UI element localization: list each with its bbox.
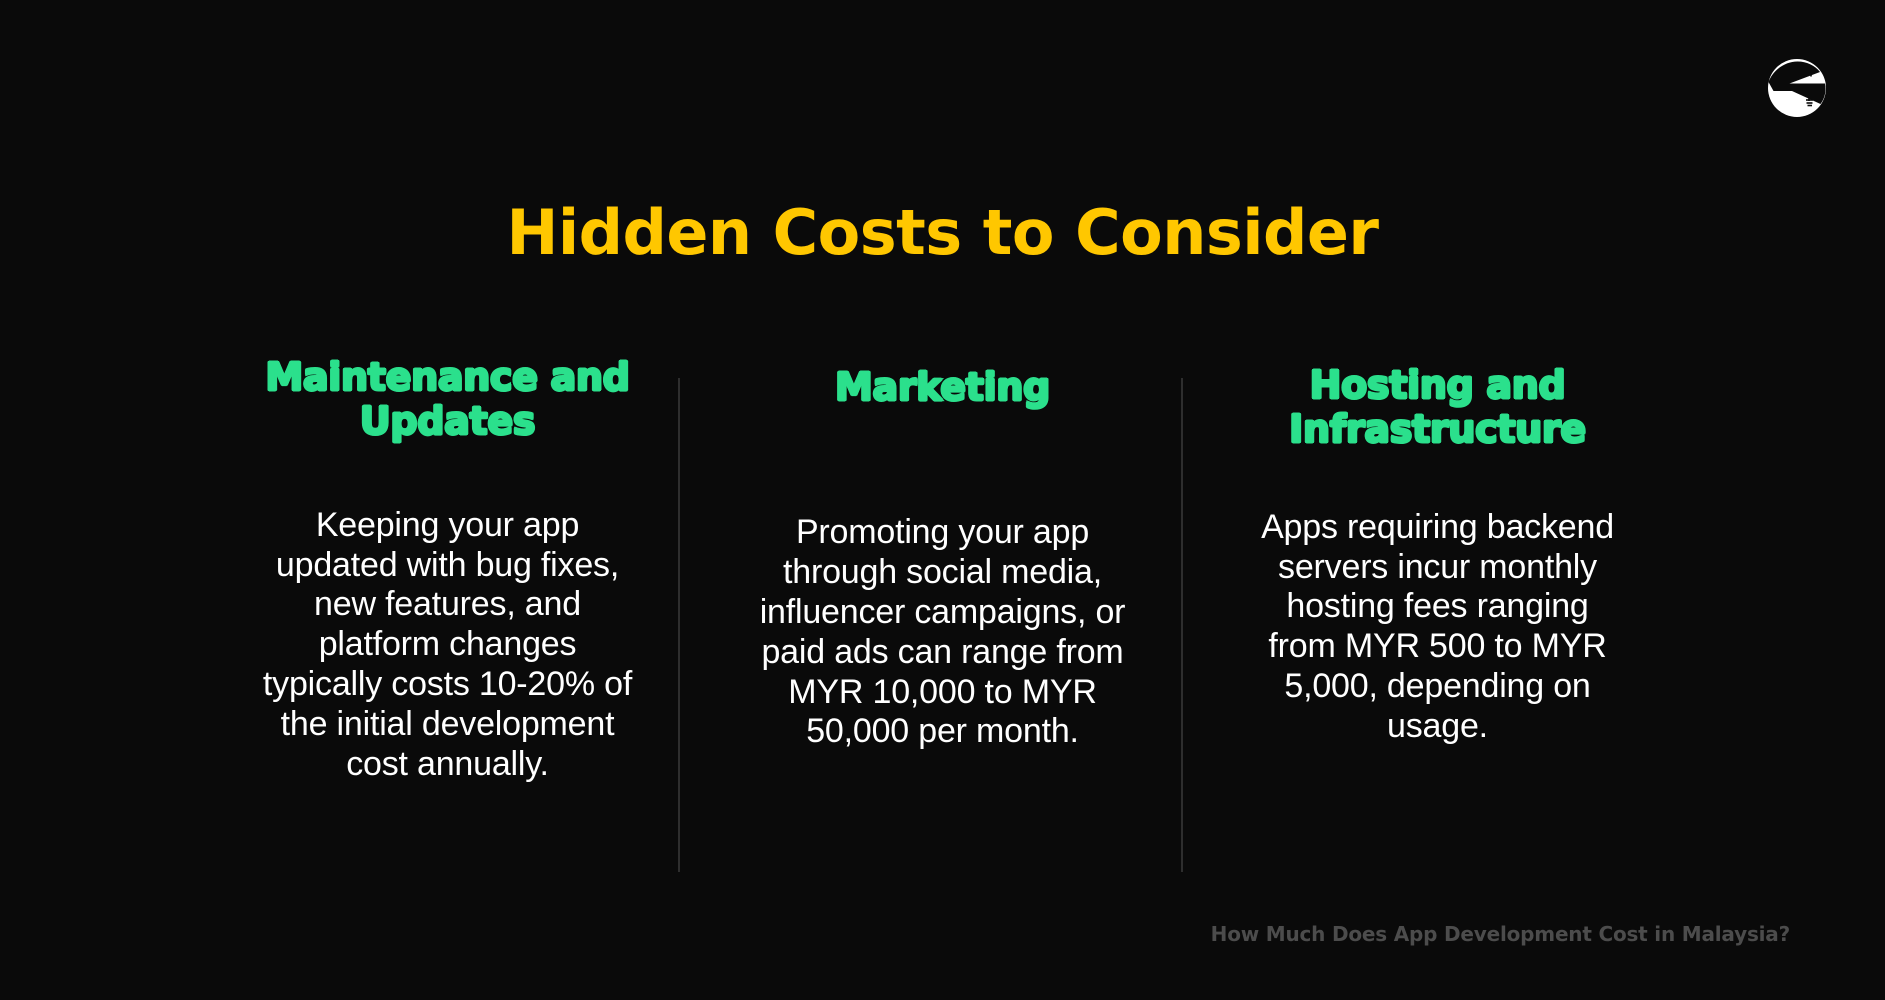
brand-logo	[1759, 50, 1835, 126]
column-body-text: Apps requiring backend servers incur mon…	[1258, 508, 1618, 747]
footer-caption: How Much Does App Development Cost in Ma…	[0, 922, 1790, 946]
page-title: Hidden Costs to Consider	[0, 202, 1885, 264]
column-marketing: Marketing Promoting your app through soc…	[695, 355, 1190, 752]
column-divider-right	[1181, 378, 1183, 872]
slide-canvas: Hidden Costs to Consider Maintenance and…	[0, 0, 1885, 1000]
column-body-text: Keeping your app updated with bug fixes,…	[258, 506, 638, 784]
column-hosting-and-infrastructure: Hosting and Infrastructure Apps requirin…	[1190, 355, 1685, 747]
column-maintenance-and-updates: Maintenance and Updates Keeping your app…	[200, 355, 695, 784]
column-divider-left	[678, 378, 680, 872]
column-heading: Hosting and Infrastructure	[1208, 363, 1667, 452]
column-heading: Marketing	[835, 365, 1050, 409]
column-body-text: Promoting your app through social media,…	[753, 513, 1133, 752]
columns-container: Maintenance and Updates Keeping your app…	[200, 355, 1685, 895]
column-heading: Maintenance and Updates	[218, 355, 677, 444]
